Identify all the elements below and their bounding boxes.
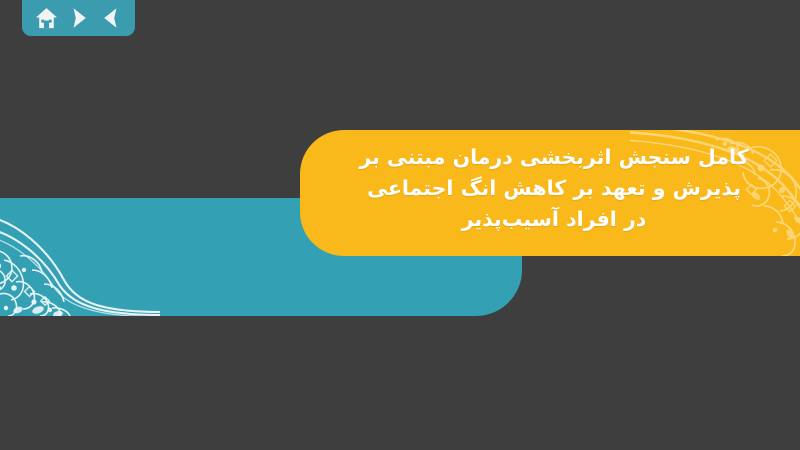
slide-title-line-3: در افراد آسیب‌پذیر [334, 204, 774, 235]
triangle-left-icon [101, 7, 121, 29]
slide-title-banner: کامل سنجش اثربخشی درمان مبتنی بر پذیرش و… [300, 130, 800, 256]
slide-stage: کامل سنجش اثربخشی درمان مبتنی بر پذیرش و… [0, 0, 800, 450]
slide-title-line-2: پذیرش و تعهد بر کاهش انگ اجتماعی [334, 173, 774, 204]
triangle-right-icon [69, 7, 89, 29]
home-icon [35, 7, 58, 30]
slide-title: کامل سنجش اثربخشی درمان مبتنی بر پذیرش و… [300, 130, 800, 235]
slide-title-line-1: کامل سنجش اثربخشی درمان مبتنی بر [334, 142, 774, 173]
arabesque-ornament-teal [0, 198, 160, 316]
previous-slide-button[interactable] [98, 5, 124, 31]
home-button[interactable] [33, 5, 59, 31]
slide-navigation-bar [22, 0, 135, 36]
next-slide-button[interactable] [66, 5, 92, 31]
